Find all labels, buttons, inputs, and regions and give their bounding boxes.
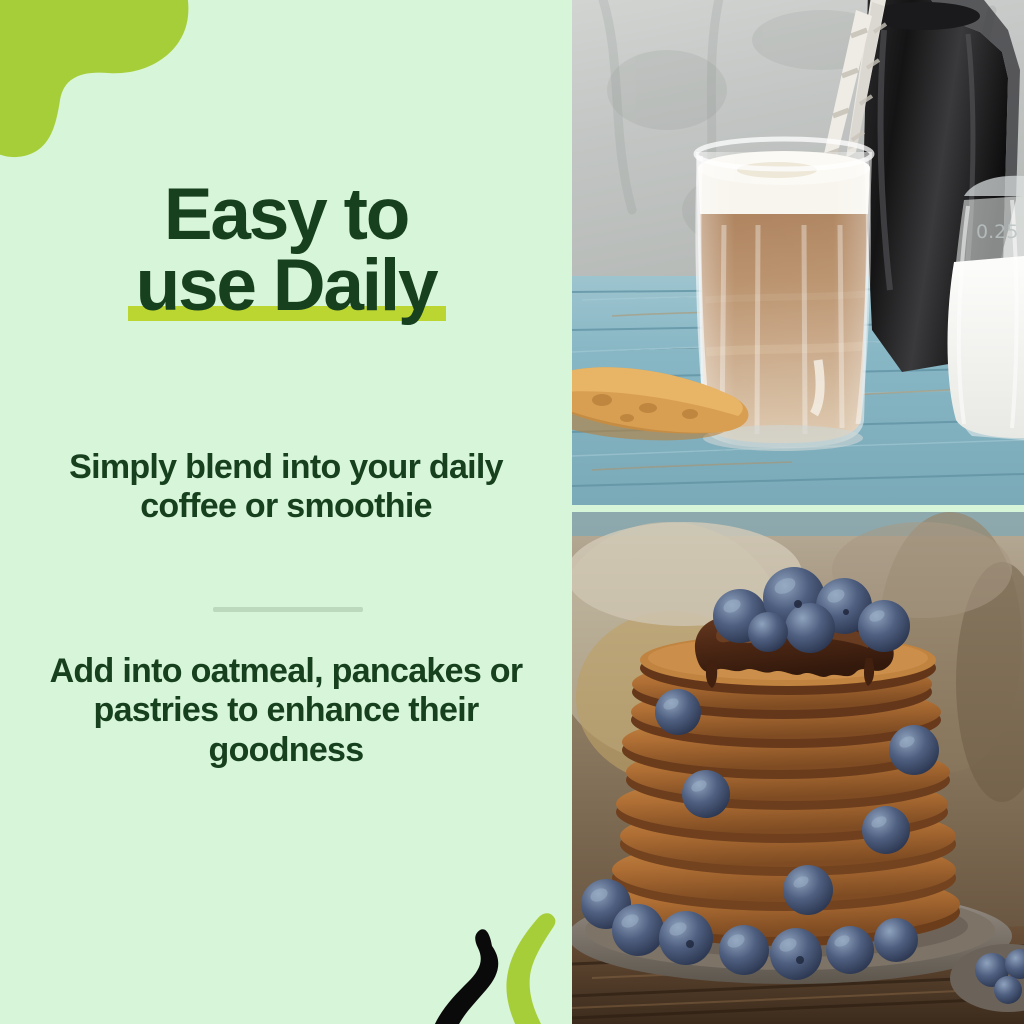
svg-text:0.25 l: 0.25 l [976, 221, 1024, 243]
body-paragraph-1: Simply blend into your daily coffee or s… [36, 448, 536, 527]
headline-line-2: use Daily [136, 245, 437, 326]
left-content-panel: Easy to use Daily Simply blend into your… [0, 0, 572, 1024]
latte-coffee-photo: 0.25 l [572, 0, 1024, 505]
headline: Easy to use Daily [0, 180, 572, 322]
curved-strokes-decoration [430, 904, 572, 1024]
body-paragraph-2: Add into oatmeal, pancakes or pastries t… [36, 652, 536, 770]
pancake-stack-photo [572, 512, 1024, 1024]
lime-blob-decoration [0, 0, 200, 160]
right-image-panel: 0.25 l [572, 0, 1024, 1024]
poster-canvas: Easy to use Daily Simply blend into your… [0, 0, 1024, 1024]
headline-line-1: Easy to [0, 180, 572, 251]
section-divider [213, 607, 363, 612]
headline-line-2-wrap: use Daily [132, 251, 441, 322]
